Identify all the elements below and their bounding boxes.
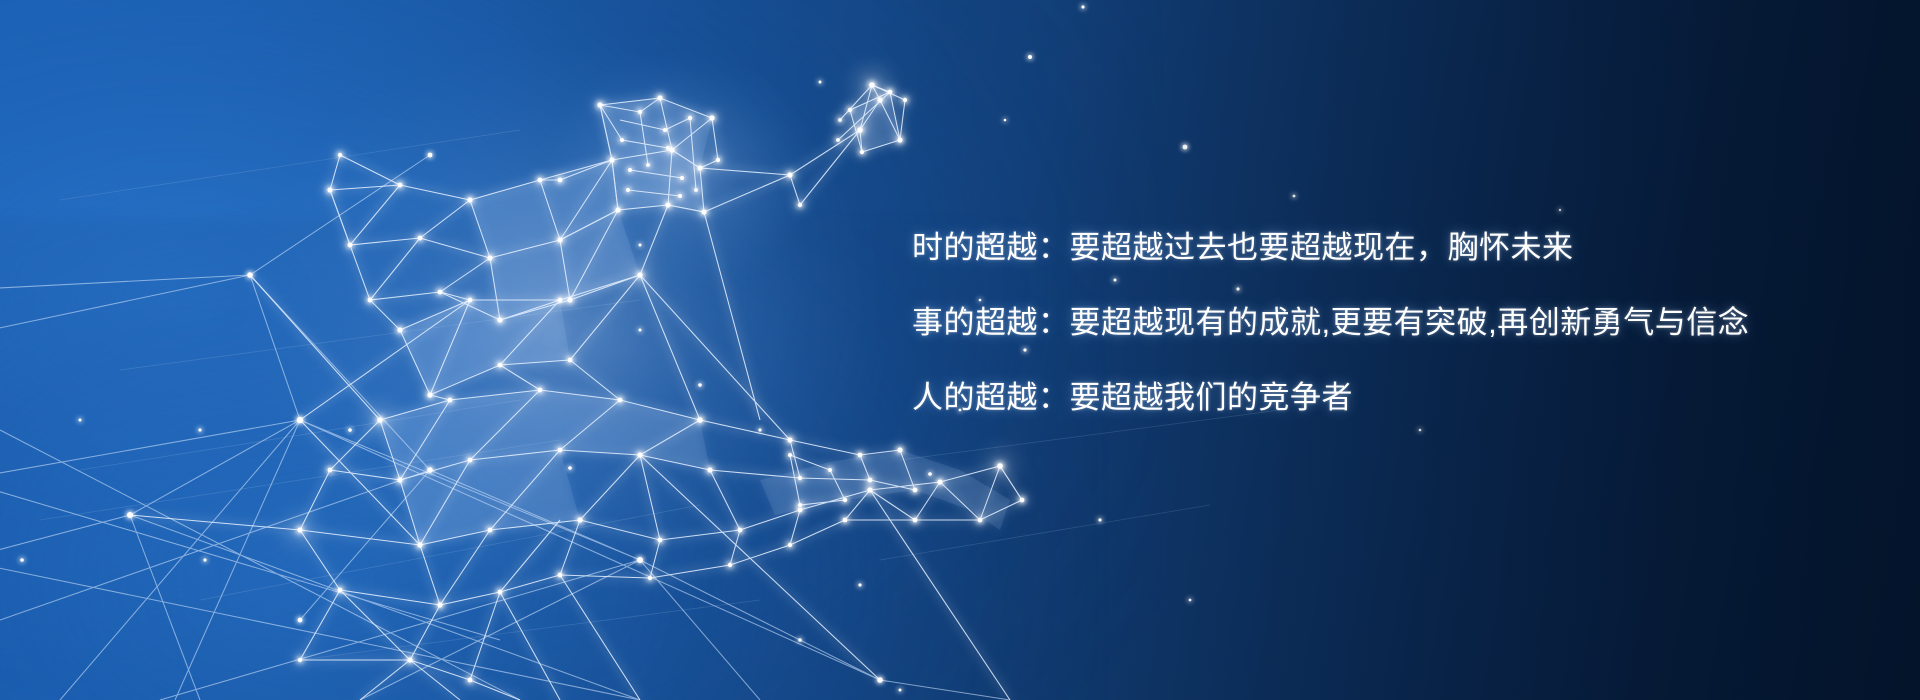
tagline-people: 人的超越：要超越我们的竞争者 (912, 382, 1812, 413)
hero-banner: 时的超越：要超越过去也要超越现在，胸怀未来 事的超越：要超越现有的成就,更要有突… (0, 0, 1920, 700)
tagline-matter: 事的超越：要超越现有的成就,更要有突破,再创新勇气与信念 (912, 307, 1812, 338)
tagline-block: 时的超越：要超越过去也要超越现在，胸怀未来 事的超越：要超越现有的成就,更要有突… (912, 232, 1812, 413)
tagline-time: 时的超越：要超越过去也要超越现在，胸怀未来 (912, 232, 1812, 263)
